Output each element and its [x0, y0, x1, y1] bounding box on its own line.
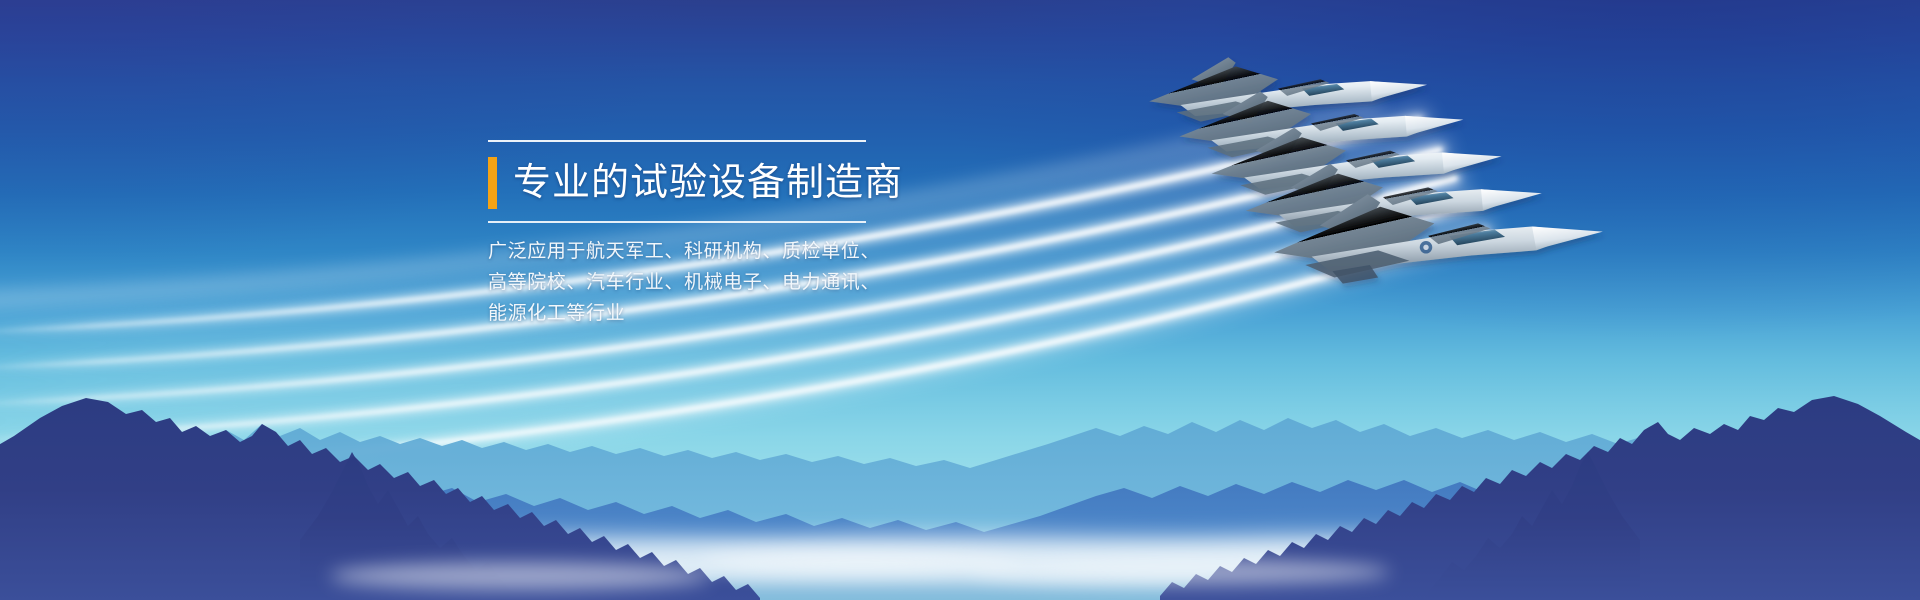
subtitle-line-3: 能源化工等行业	[488, 299, 888, 330]
page-title: 专业的试验设备制造商	[513, 164, 903, 202]
subtitle-line-2: 高等院校、汽车行业、机械电子、电力通讯、	[488, 268, 888, 299]
mountain-range-icon	[0, 340, 1920, 600]
headline-row: 专业的试验设备制造商	[488, 145, 888, 221]
hero-banner: 专业的试验设备制造商 广泛应用于航天军工、科研机构、质检单位、 高等院校、汽车行…	[0, 0, 1920, 600]
divider-top	[488, 140, 866, 142]
subtitle-line-1: 广泛应用于航天军工、科研机构、质检单位、	[488, 237, 888, 268]
fighter-jet-formation-icon	[1120, 30, 1920, 310]
banner-subtitle: 广泛应用于航天军工、科研机构、质检单位、 高等院校、汽车行业、机械电子、电力通讯…	[488, 237, 888, 329]
divider-bottom	[488, 221, 866, 223]
accent-bar-icon	[488, 157, 497, 209]
banner-copy-block: 专业的试验设备制造商 广泛应用于航天军工、科研机构、质检单位、 高等院校、汽车行…	[488, 140, 888, 329]
